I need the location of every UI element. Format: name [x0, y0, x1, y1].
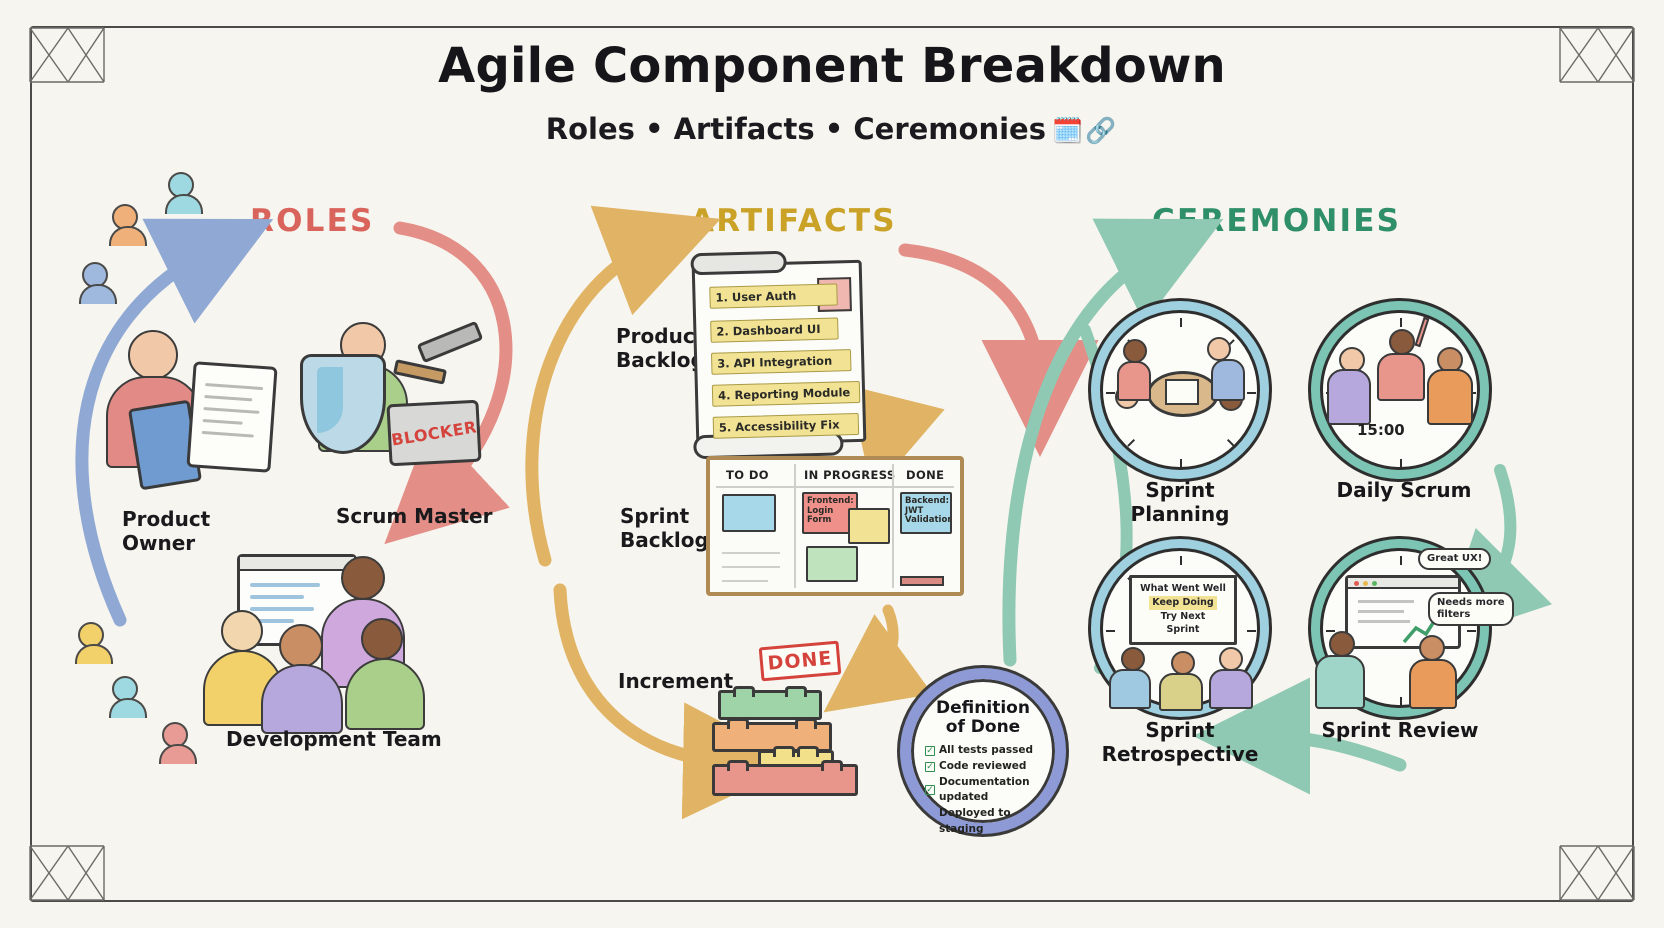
checkbox-checked-icon: ✓ [925, 785, 935, 795]
ceremony-label-sprint-retrospective: Sprint Retrospective [1098, 718, 1262, 766]
avatar-icon [168, 172, 194, 198]
feedback-bubble-request: Needs more filters [1428, 592, 1514, 626]
person-head-icon [1389, 329, 1415, 355]
person-head-icon [1329, 631, 1355, 657]
column-heading-ceremonies: CEREMONIES [1152, 203, 1401, 239]
person-body-icon [261, 664, 343, 734]
product-backlog-scroll: 1. User Auth 2. Dashboard UI 3. API Inte… [692, 260, 867, 446]
done-tag: DONE [759, 641, 842, 682]
sprint-planning-clock [1100, 310, 1260, 470]
artifact-label-sprint-backlog: Sprint Backlog [620, 505, 709, 552]
avatar-icon [78, 622, 104, 648]
retro-heading: What Went Well [1132, 582, 1234, 596]
scrum-master-illustration: BLOCKER [300, 322, 500, 492]
avatar-icon [162, 722, 188, 748]
person-head-icon [128, 330, 178, 380]
retro-line-3: Try Next [1132, 610, 1234, 624]
checkbox-checked-icon: ✓ [925, 762, 935, 772]
frame-corner-bottom-left [28, 842, 106, 904]
kanban-column-header: DONE [906, 468, 944, 482]
kanban-card[interactable] [848, 508, 890, 544]
blocker-rock-icon: BLOCKER [386, 400, 481, 467]
column-heading-roles: ROLES [250, 203, 374, 239]
daily-scrum-timer: 15:00 [1357, 421, 1405, 439]
dod-checklist: ✓ All tests passed ✓ Code reviewed ✓ Doc… [911, 743, 1055, 838]
retro-line-4: Sprint [1132, 623, 1234, 637]
dod-title: Definition of Done [936, 699, 1030, 737]
avatar-icon [112, 676, 138, 702]
calendar-link-icon: 🗓️🔗 [1052, 116, 1118, 145]
backlog-item: 3. API Integration [711, 349, 852, 375]
backlog-item: 2. Dashboard UI [710, 317, 839, 342]
retrospective-board: What Went Well Keep Doing Try Next Sprin… [1129, 575, 1237, 645]
person-head-icon [1121, 647, 1145, 671]
window-title-bar [240, 557, 354, 571]
backlog-item: 5. Accessibility Fix [713, 413, 860, 439]
retro-line-2: Keep Doing [1132, 596, 1234, 610]
artifact-label-product-backlog: Product Backlog [616, 325, 705, 372]
page-title: Agile Component Breakdown [0, 38, 1664, 94]
subtitle-text: Roles • Artifacts • Ceremonies [546, 112, 1046, 146]
avatar-icon [82, 262, 108, 288]
kanban-card[interactable]: Backend: JWT Validation [900, 492, 952, 534]
product-owner-illustration [100, 330, 275, 495]
dod-item: ✓ Code reviewed [925, 759, 1055, 775]
backlog-item: 4. Reporting Module [712, 381, 861, 407]
lego-brick-red [712, 764, 858, 796]
person-head-icon [221, 610, 263, 652]
dod-item: ✓ Documentation updated [925, 775, 1055, 807]
person-head-icon [361, 618, 403, 660]
person-head-icon [1219, 647, 1243, 671]
feedback-bubble-positive: Great UX! [1418, 548, 1491, 570]
frame-corner-bottom-right [1558, 842, 1636, 904]
increment-lego-stack: DONE [712, 650, 868, 798]
person-body-icon [345, 658, 425, 730]
kanban-card[interactable] [806, 546, 858, 582]
column-heading-artifacts: ARTIFACTS [690, 203, 897, 239]
role-label-development-team: Development Team [226, 728, 442, 752]
scroll-curl-top [690, 251, 787, 276]
ceremony-label-sprint-planning: Sprint Planning [1100, 478, 1260, 526]
person-head-icon [1123, 339, 1147, 363]
person-head-icon [1419, 635, 1445, 661]
blocker-label: BLOCKER [387, 399, 481, 468]
daily-scrum-clock: 15:00 [1320, 310, 1480, 470]
role-label-scrum-master: Scrum Master [336, 505, 492, 529]
person-head-icon [1171, 651, 1195, 675]
role-label-product-owner: Product Owner [122, 508, 210, 555]
ceremony-label-daily-scrum: Daily Scrum [1324, 478, 1484, 502]
backlog-item: 1. User Auth [709, 283, 838, 308]
checkbox-checked-icon: ✓ [925, 746, 935, 756]
ceremony-label-sprint-review: Sprint Review [1318, 718, 1482, 742]
kanban-card[interactable] [722, 494, 776, 532]
checkbox-icon [925, 817, 935, 827]
hammer-icon [417, 321, 484, 364]
infographic-canvas: Agile Component Breakdown Roles • Artifa… [0, 0, 1664, 928]
dod-item: ✓ All tests passed [925, 743, 1055, 759]
lego-brick-green [718, 690, 822, 720]
person-head-icon [279, 624, 323, 668]
pencil-icon [1415, 317, 1430, 347]
requirements-scroll-icon [186, 361, 277, 473]
development-team-illustration [215, 548, 430, 723]
sprint-review-clock [1320, 548, 1480, 708]
person-head-icon [1207, 337, 1231, 361]
person-head-icon [341, 556, 385, 600]
kanban-column-header: TO DO [726, 468, 769, 482]
sprint-backlog-board: TO DO IN PROGRESS DONE Frontend: Login F… [706, 456, 964, 596]
dod-item: Deployed to staging [925, 806, 1055, 838]
kanban-column-header: IN PROGRESS [804, 468, 896, 482]
definition-of-done-badge: Definition of Done ✓ All tests passed ✓ … [900, 668, 1066, 834]
page-subtitle: Roles • Artifacts • Ceremonies🗓️🔗 [0, 112, 1664, 146]
sprint-retrospective-clock: What Went Well Keep Doing Try Next Sprin… [1100, 548, 1260, 708]
avatar-icon [112, 204, 138, 230]
